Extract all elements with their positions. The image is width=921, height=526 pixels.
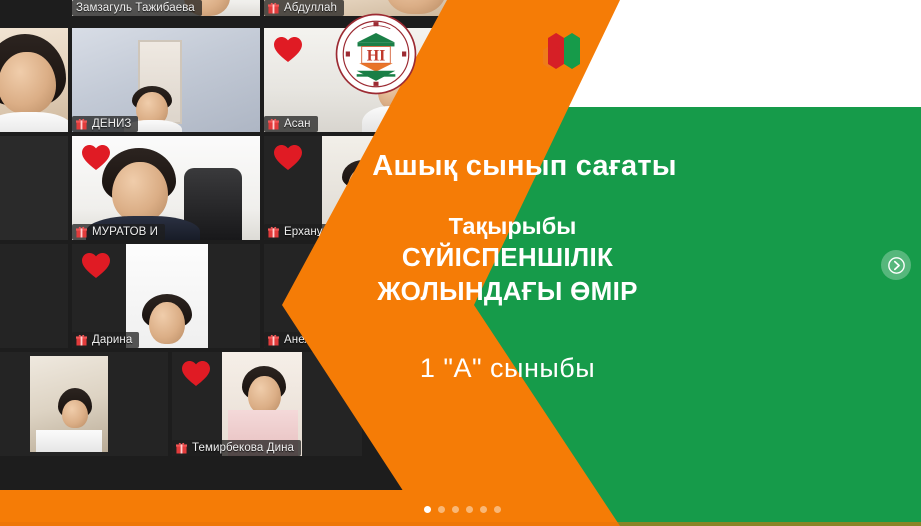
pagination-dot[interactable] (480, 506, 487, 513)
participant-name: Темирбекова Дина (192, 442, 294, 454)
participant-name: ДЕНИЗ (92, 118, 131, 130)
gift-icon (268, 118, 279, 130)
next-slide-button[interactable] (881, 250, 911, 280)
participant-name: Асан (284, 118, 311, 130)
pagination-dot[interactable] (452, 506, 459, 513)
participant-name-badge: ДЕНИЗ (72, 116, 138, 132)
slide-subject-label: Тақырыбы (110, 213, 915, 240)
slide-topic-line-1: СҮЙІСПЕНШІЛІК (100, 242, 915, 274)
logo-row: НІ (0, 0, 921, 107)
bottom-hairline (0, 522, 921, 526)
presentation-screenshot: Замзагуль Тажибаева Абдуллаһ (0, 0, 921, 526)
pagination-dot[interactable] (466, 506, 473, 513)
slide-text-block: Ашық сынып сағаты Тақырыбы СҮЙІСПЕНШІЛІК… (0, 150, 921, 384)
slide-headline: Ашық сынып сағаты (134, 150, 915, 183)
slide-topic-line-2: ЖОЛЫНДАҒЫ ӨМІР (100, 276, 915, 308)
gift-icon (176, 442, 187, 454)
m-hexagon-logo-icon (526, 30, 588, 78)
chevron-right-icon (888, 257, 905, 274)
participant-name-badge: Асан (264, 116, 318, 132)
gift-icon (76, 118, 87, 130)
school-crest-icon: НІ (334, 12, 418, 96)
pagination-dot[interactable] (494, 506, 501, 513)
slide-grade: 1 "А" сыныбы (100, 353, 915, 384)
pagination-dot[interactable] (438, 506, 445, 513)
svg-text:НІ: НІ (366, 47, 385, 64)
pagination-dot[interactable] (424, 506, 431, 513)
pagination-dots[interactable] (424, 506, 501, 513)
participant-name-badge: Темирбекова Дина (172, 440, 301, 456)
